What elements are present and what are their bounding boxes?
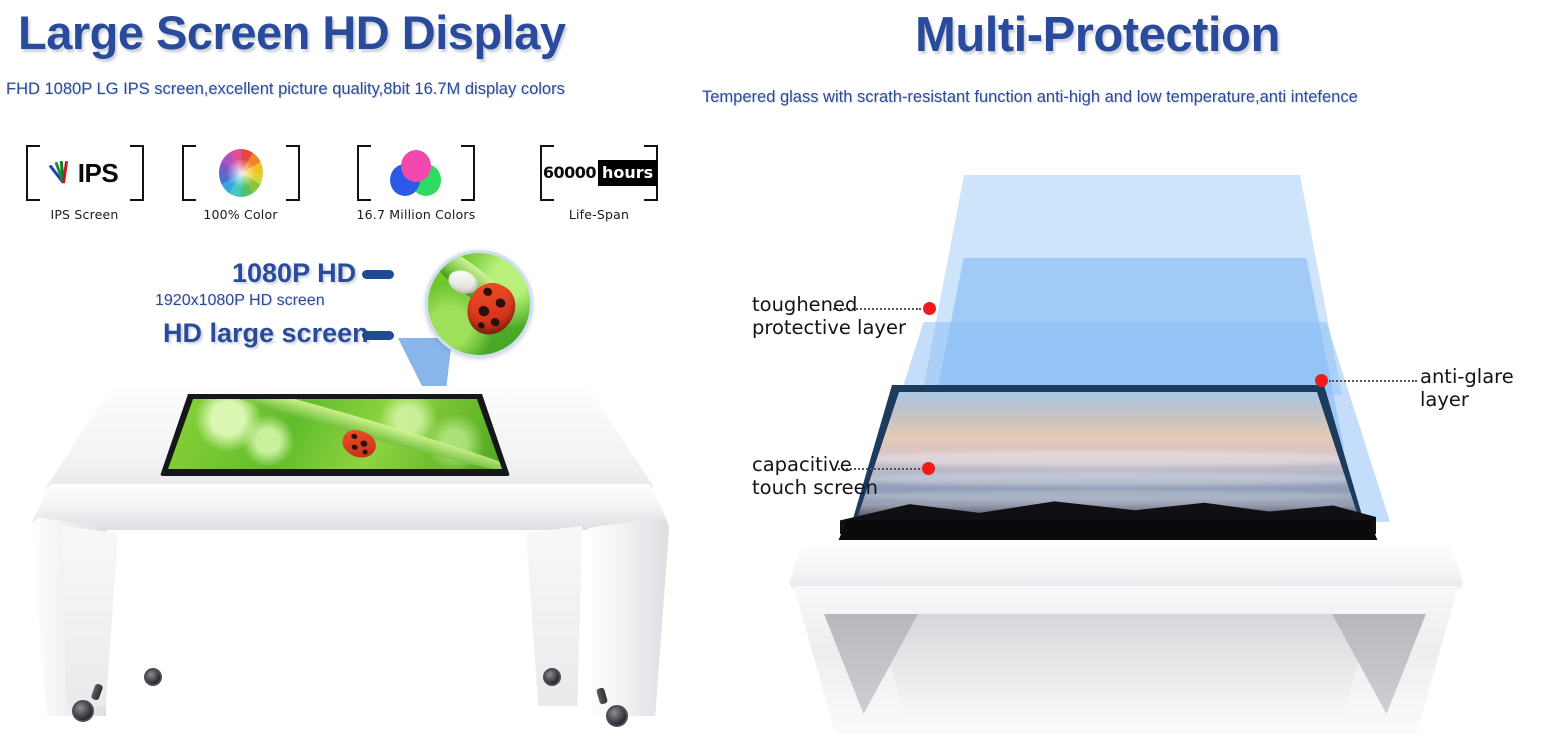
badge-16-7-million-colors: 16.7 Million Colors bbox=[336, 145, 496, 222]
badge-frame: 60000 hours bbox=[540, 145, 658, 201]
callout-resolution: 1920x1080P HD screen bbox=[155, 292, 325, 310]
caster-wheel-icon-3 bbox=[72, 700, 94, 722]
marker-dot-toughened-protective-layer bbox=[923, 302, 936, 315]
leader-line-anti-glare-layer bbox=[1329, 380, 1417, 382]
feature-badge-row: IPS IPS Screen 100% Color bbox=[6, 145, 676, 235]
badge-ips-screen: IPS IPS Screen bbox=[12, 145, 157, 222]
annotation-line-2: layer bbox=[1420, 389, 1514, 412]
annotation-anti-glare-layer: anti-glare layer bbox=[1420, 366, 1514, 411]
magnifier-zoom-bubble bbox=[425, 250, 533, 358]
caster-wheel-icon-4 bbox=[606, 705, 628, 727]
page-title-left: Large Screen HD Display bbox=[18, 5, 566, 60]
annotation-line-1: capacitive bbox=[752, 454, 878, 477]
dash-marker-icon-1 bbox=[362, 270, 394, 279]
product-feature-slide: Large Screen HD Display FHD 1080P LG IPS… bbox=[0, 0, 1561, 735]
badge-label-life-span: Life-Span bbox=[524, 207, 674, 222]
life-span-hours-value: 60000 bbox=[541, 162, 598, 184]
life-span-hours-unit: hours bbox=[598, 160, 657, 186]
ips-logo-text: IPS bbox=[78, 160, 118, 186]
table-leg-right bbox=[588, 516, 670, 716]
badge-frame: IPS bbox=[26, 145, 144, 201]
table-apron bbox=[28, 484, 672, 530]
color-wheel-icon bbox=[182, 145, 300, 201]
ips-rays-icon bbox=[51, 160, 77, 186]
badge-100-percent-color: 100% Color bbox=[168, 145, 313, 222]
callout-1080p-hd: 1080P HD bbox=[232, 258, 356, 289]
badge-frame bbox=[182, 145, 300, 201]
callout-hd-large-screen: HD large screen bbox=[163, 318, 369, 349]
annotation-line-1: toughened bbox=[752, 294, 906, 317]
panel-multi-protection: Multi-Protection Tempered glass with scr… bbox=[690, 0, 1561, 735]
subtitle-left: FHD 1080P LG IPS screen,excellent pictur… bbox=[6, 80, 565, 99]
table-top-surface bbox=[786, 540, 1466, 592]
panel-large-screen-hd-display: Large Screen HD Display FHD 1080P LG IPS… bbox=[0, 0, 690, 735]
callout-resolution-label: 1920x1080P HD screen bbox=[155, 292, 325, 309]
table-under-shelf-cavity bbox=[822, 614, 1426, 722]
product-image-touch-table-left bbox=[28, 380, 688, 735]
dash-marker-icon-2 bbox=[362, 331, 394, 340]
badge-label-100-percent-color: 100% Color bbox=[168, 207, 313, 222]
life-span-icon: 60000 hours bbox=[540, 145, 658, 201]
caster-wheel-icon-2 bbox=[543, 668, 561, 686]
badge-label-16-7-million-colors: 16.7 Million Colors bbox=[336, 207, 496, 222]
callout-hd-large-screen-label: HD large screen bbox=[163, 318, 369, 348]
annotation-line-1: anti-glare bbox=[1420, 366, 1514, 389]
annotation-toughened-protective-layer: toughened protective layer bbox=[752, 294, 906, 339]
badge-frame bbox=[357, 145, 475, 201]
rgb-venn-icon bbox=[357, 145, 475, 201]
annotation-capacitive-touch-screen: capacitive touch screen bbox=[752, 454, 878, 499]
badge-life-span: 60000 hours Life-Span bbox=[524, 145, 674, 222]
marker-dot-anti-glare-layer bbox=[1315, 374, 1328, 387]
screen-wallpaper-ladybug bbox=[168, 399, 502, 469]
caster-wheel-icon-1 bbox=[144, 668, 162, 686]
table-leg-inner-left bbox=[62, 526, 118, 706]
annotation-line-2: protective layer bbox=[752, 317, 906, 340]
badge-label-ips-screen: IPS Screen bbox=[12, 207, 157, 222]
product-image-touch-table-right bbox=[780, 540, 1480, 735]
annotation-line-2: touch screen bbox=[752, 477, 878, 500]
ips-logo-icon: IPS bbox=[26, 145, 144, 201]
callout-1080p-hd-label: 1080P HD bbox=[232, 258, 356, 288]
marker-dot-capacitive-touch-screen bbox=[922, 462, 935, 475]
